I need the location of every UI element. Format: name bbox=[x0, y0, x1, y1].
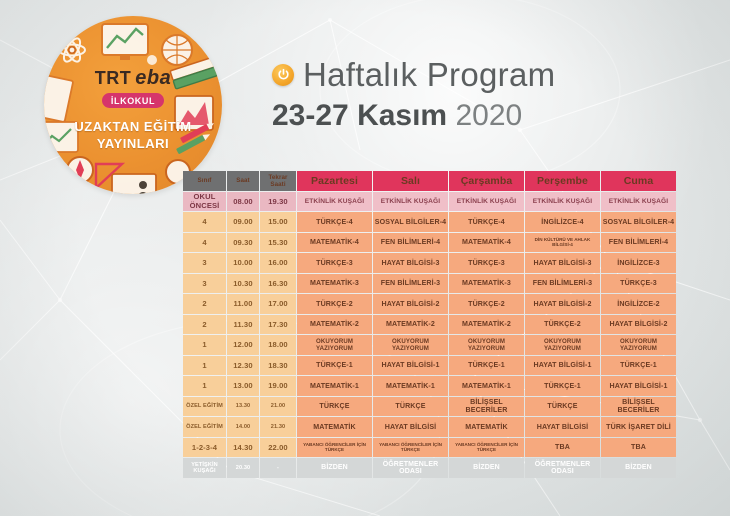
cell-day-sali: SOSYAL BİLGİLER-4 bbox=[373, 212, 448, 232]
cell-day-sali: FEN BİLİMLERİ-4 bbox=[373, 233, 448, 253]
column-header-cuma: Cuma bbox=[601, 171, 676, 191]
column-header-pazartesi: Pazartesi bbox=[297, 171, 372, 191]
cell-sinif: 1 bbox=[183, 356, 226, 376]
cell-tekrar: - bbox=[260, 458, 296, 478]
trt-eba-logo: TRT eba İLKOKUL UZAKTAN EĞİTİM YAYINLARI bbox=[44, 16, 222, 194]
table-row: OKUL ÖNCESİ08.0019.30ETKİNLİK KUŞAĞIETKİ… bbox=[183, 192, 676, 212]
cell-day-cuma: HAYAT BİLGİSİ-1 bbox=[601, 376, 676, 396]
cell-day-sali: HAYAT BİLGİSİ-3 bbox=[373, 253, 448, 273]
cell-day-sali: HAYAT BİLGİSİ bbox=[373, 417, 448, 437]
cell-day-pazartesi: MATEMATİK-2 bbox=[297, 315, 372, 335]
cell-saat: 10.30 bbox=[227, 274, 259, 294]
cell-day-cuma: İNGİLİZCE-2 bbox=[601, 294, 676, 314]
table-row: 211.0017.00TÜRKÇE-2HAYAT BİLGİSİ-2TÜRKÇE… bbox=[183, 294, 676, 314]
cell-day-cuma: OKUYORUM YAZIYORUM bbox=[601, 335, 676, 355]
cell-day-sali: TÜRKÇE bbox=[373, 397, 448, 417]
cell-day-cuma: TÜRKÇE-3 bbox=[601, 274, 676, 294]
cell-sinif: ÖZEL EĞİTİM bbox=[183, 397, 226, 417]
cell-day-sali: HAYAT BİLGİSİ-1 bbox=[373, 356, 448, 376]
cell-day-pazartesi: MATEMATİK bbox=[297, 417, 372, 437]
cell-day-carsamba: MATEMATİK-4 bbox=[449, 233, 524, 253]
cell-day-carsamba: MATEMATİK-2 bbox=[449, 315, 524, 335]
table-body: OKUL ÖNCESİ08.0019.30ETKİNLİK KUŞAĞIETKİ… bbox=[183, 192, 676, 478]
power-icon bbox=[272, 64, 294, 86]
logo-tagline-line2: YAYINLARI bbox=[44, 135, 222, 153]
cell-tekrar: 15.00 bbox=[260, 212, 296, 232]
page-subtitle: 23-27 Kasım 2020 bbox=[272, 101, 555, 131]
cell-day-sali: HAYAT BİLGİSİ-2 bbox=[373, 294, 448, 314]
table-row: 1-2-3-414.3022.00YABANCI ÖĞRENCİLER İÇİN… bbox=[183, 438, 676, 458]
logo-level-badge: İLKOKUL bbox=[102, 93, 164, 108]
cell-sinif: OKUL ÖNCESİ bbox=[183, 192, 226, 212]
cell-day-pazartesi: ETKİNLİK KUŞAĞI bbox=[297, 192, 372, 212]
cell-day-persembe: HAYAT BİLGİSİ-2 bbox=[525, 294, 600, 314]
cell-day-pazartesi: MATEMATİK-3 bbox=[297, 274, 372, 294]
table-row: 113.0019.00MATEMATİK-1MATEMATİK-1MATEMAT… bbox=[183, 376, 676, 396]
column-header-carsamba: Çarşamba bbox=[449, 171, 524, 191]
cell-day-carsamba: OKUYORUM YAZIYORUM bbox=[449, 335, 524, 355]
page-title-block: Haftalık Program 23-27 Kasım 2020 bbox=[272, 58, 555, 131]
cell-saat: 20.30 bbox=[227, 458, 259, 478]
table-row: 310.3016.30MATEMATİK-3FEN BİLİMLERİ-3MAT… bbox=[183, 274, 676, 294]
cell-sinif: 2 bbox=[183, 315, 226, 335]
page-title-row: Haftalık Program bbox=[272, 58, 555, 91]
cell-day-persembe: OKUYORUM YAZIYORUM bbox=[525, 335, 600, 355]
cell-saat: 12.30 bbox=[227, 356, 259, 376]
cell-day-persembe: HAYAT BİLGİSİ-1 bbox=[525, 356, 600, 376]
table-row: ÖZEL EĞİTİM14.0021.30MATEMATİKHAYAT BİLG… bbox=[183, 417, 676, 437]
cell-day-persembe: ÖĞRETMENLER ODASI bbox=[525, 458, 600, 478]
cell-day-pazartesi: TÜRKÇE-3 bbox=[297, 253, 372, 273]
cell-saat: 13.00 bbox=[227, 376, 259, 396]
cell-day-pazartesi: MATEMATİK-4 bbox=[297, 233, 372, 253]
cell-day-carsamba: TÜRKÇE-3 bbox=[449, 253, 524, 273]
cell-day-persembe: FEN BİLİMLERİ-3 bbox=[525, 274, 600, 294]
cell-sinif: 1 bbox=[183, 376, 226, 396]
cell-day-cuma: BİZDEN bbox=[601, 458, 676, 478]
cell-sinif: 1 bbox=[183, 335, 226, 355]
cell-day-cuma: TBA bbox=[601, 438, 676, 458]
column-header-persembe: Perşembe bbox=[525, 171, 600, 191]
cell-sinif: 3 bbox=[183, 274, 226, 294]
cell-tekrar: 21.00 bbox=[260, 397, 296, 417]
cell-day-cuma: FEN BİLİMLERİ-4 bbox=[601, 233, 676, 253]
cell-day-cuma: TÜRKÇE-1 bbox=[601, 356, 676, 376]
table-row: ÖZEL EĞİTİM13.3021.00TÜRKÇETÜRKÇEBİLİŞSE… bbox=[183, 397, 676, 417]
cell-day-pazartesi: TÜRKÇE-2 bbox=[297, 294, 372, 314]
date-range: 23-27 Kasım bbox=[272, 99, 447, 132]
cell-day-cuma: BİLİŞSEL BECERİLER bbox=[601, 397, 676, 417]
cell-saat: 11.30 bbox=[227, 315, 259, 335]
cell-day-carsamba: BİLİŞSEL BECERİLER bbox=[449, 397, 524, 417]
page-title: Haftalık Program bbox=[303, 58, 555, 91]
cell-saat: 09.30 bbox=[227, 233, 259, 253]
cell-day-carsamba: ETKİNLİK KUŞAĞI bbox=[449, 192, 524, 212]
cell-day-sali: ÖĞRETMENLER ODASI bbox=[373, 458, 448, 478]
cell-day-cuma: SOSYAL BİLGİLER-4 bbox=[601, 212, 676, 232]
cell-day-sali: YABANCI ÖĞRENCİLER İÇİN TÜRKÇE bbox=[373, 438, 448, 458]
cell-sinif: 4 bbox=[183, 233, 226, 253]
cell-tekrar: 15.30 bbox=[260, 233, 296, 253]
cell-saat: 12.00 bbox=[227, 335, 259, 355]
logo-eba-text: eba bbox=[135, 68, 171, 88]
cell-saat: 10.00 bbox=[227, 253, 259, 273]
cell-tekrar: 16.30 bbox=[260, 274, 296, 294]
cell-sinif: 4 bbox=[183, 212, 226, 232]
table-row: YETİŞKİN KUŞAĞI20.30-BİZDENÖĞRETMENLER O… bbox=[183, 458, 676, 478]
table-row: 409.3015.30MATEMATİK-4FEN BİLİMLERİ-4MAT… bbox=[183, 233, 676, 253]
weekly-schedule-table: Sınıf Saat Tekrar Saati Pazartesi Salı Ç… bbox=[182, 170, 677, 479]
cell-day-cuma: HAYAT BİLGİSİ-2 bbox=[601, 315, 676, 335]
cell-day-persembe: TÜRKÇE-2 bbox=[525, 315, 600, 335]
cell-saat: 14.30 bbox=[227, 438, 259, 458]
cell-sinif: ÖZEL EĞİTİM bbox=[183, 417, 226, 437]
cell-tekrar: 19.30 bbox=[260, 192, 296, 212]
cell-day-carsamba: YABANCI ÖĞRENCİLER İÇİN TÜRKÇE bbox=[449, 438, 524, 458]
cell-day-carsamba: TÜRKÇE-4 bbox=[449, 212, 524, 232]
cell-day-pazartesi: TÜRKÇE-1 bbox=[297, 356, 372, 376]
cell-day-sali: ETKİNLİK KUŞAĞI bbox=[373, 192, 448, 212]
cell-day-persembe: ETKİNLİK KUŞAĞI bbox=[525, 192, 600, 212]
cell-day-persembe: HAYAT BİLGİSİ bbox=[525, 417, 600, 437]
column-header-tekrar-saati: Tekrar Saati bbox=[260, 171, 296, 191]
table-row: 211.3017.30MATEMATİK-2MATEMATİK-2MATEMAT… bbox=[183, 315, 676, 335]
cell-saat: 14.00 bbox=[227, 417, 259, 437]
column-header-sinif: Sınıf bbox=[183, 171, 226, 191]
cell-day-persembe: İNGİLİZCE-4 bbox=[525, 212, 600, 232]
cell-day-pazartesi: OKUYORUM YAZIYORUM bbox=[297, 335, 372, 355]
logo-wordmark: TRT eba bbox=[44, 68, 222, 88]
cell-day-pazartesi: YABANCI ÖĞRENCİLER İÇİN TÜRKÇE bbox=[297, 438, 372, 458]
cell-tekrar: 18.00 bbox=[260, 335, 296, 355]
table-header: Sınıf Saat Tekrar Saati Pazartesi Salı Ç… bbox=[183, 171, 676, 191]
cell-saat: 09.00 bbox=[227, 212, 259, 232]
cell-day-carsamba: MATEMATİK-3 bbox=[449, 274, 524, 294]
cell-day-carsamba: TÜRKÇE-1 bbox=[449, 356, 524, 376]
cell-day-persembe: TÜRKÇE bbox=[525, 397, 600, 417]
cell-tekrar: 17.30 bbox=[260, 315, 296, 335]
cell-tekrar: 21.30 bbox=[260, 417, 296, 437]
cell-day-carsamba: TÜRKÇE-2 bbox=[449, 294, 524, 314]
table-row: 409.0015.00TÜRKÇE-4SOSYAL BİLGİLER-4TÜRK… bbox=[183, 212, 676, 232]
cell-sinif: 3 bbox=[183, 253, 226, 273]
cell-day-cuma: İNGİLİZCE-3 bbox=[601, 253, 676, 273]
column-header-sali: Salı bbox=[373, 171, 448, 191]
cell-day-persembe: TBA bbox=[525, 438, 600, 458]
cell-day-persembe: TÜRKÇE-1 bbox=[525, 376, 600, 396]
cell-tekrar: 19.00 bbox=[260, 376, 296, 396]
cell-day-pazartesi: MATEMATİK-1 bbox=[297, 376, 372, 396]
table-row: 112.0018.00OKUYORUM YAZIYORUMOKUYORUM YA… bbox=[183, 335, 676, 355]
logo-tagline-line1: UZAKTAN EĞİTİM bbox=[44, 118, 222, 136]
cell-day-carsamba: MATEMATİK bbox=[449, 417, 524, 437]
cell-sinif: YETİŞKİN KUŞAĞI bbox=[183, 458, 226, 478]
cell-saat: 08.00 bbox=[227, 192, 259, 212]
cell-day-sali: OKUYORUM YAZIYORUM bbox=[373, 335, 448, 355]
cell-day-persembe: HAYAT BİLGİSİ-3 bbox=[525, 253, 600, 273]
cell-tekrar: 22.00 bbox=[260, 438, 296, 458]
cell-day-carsamba: MATEMATİK-1 bbox=[449, 376, 524, 396]
column-header-saat: Saat bbox=[227, 171, 259, 191]
year: 2020 bbox=[455, 99, 522, 132]
cell-day-pazartesi: TÜRKÇE bbox=[297, 397, 372, 417]
cell-saat: 11.00 bbox=[227, 294, 259, 314]
logo-trt-text: TRT bbox=[95, 69, 132, 87]
logo-tagline: UZAKTAN EĞİTİM YAYINLARI bbox=[44, 118, 222, 153]
cell-day-pazartesi: TÜRKÇE-4 bbox=[297, 212, 372, 232]
cell-day-sali: MATEMATİK-1 bbox=[373, 376, 448, 396]
table-row: 310.0016.00TÜRKÇE-3HAYAT BİLGİSİ-3TÜRKÇE… bbox=[183, 253, 676, 273]
cell-sinif: 2 bbox=[183, 294, 226, 314]
cell-day-pazartesi: BİZDEN bbox=[297, 458, 372, 478]
table-row: 112.3018.30TÜRKÇE-1HAYAT BİLGİSİ-1TÜRKÇE… bbox=[183, 356, 676, 376]
cell-day-cuma: ETKİNLİK KUŞAĞI bbox=[601, 192, 676, 212]
cell-day-cuma: TÜRK İŞARET DİLİ bbox=[601, 417, 676, 437]
cell-tekrar: 17.00 bbox=[260, 294, 296, 314]
cell-day-persembe: DİN KÜLTÜRÜ VE AHLAK BİLGİSİ-4 bbox=[525, 233, 600, 253]
cell-day-carsamba: BİZDEN bbox=[449, 458, 524, 478]
table-header-row: Sınıf Saat Tekrar Saati Pazartesi Salı Ç… bbox=[183, 171, 676, 191]
cell-day-sali: FEN BİLİMLERİ-3 bbox=[373, 274, 448, 294]
cell-tekrar: 16.00 bbox=[260, 253, 296, 273]
cell-saat: 13.30 bbox=[227, 397, 259, 417]
cell-tekrar: 18.30 bbox=[260, 356, 296, 376]
cell-sinif: 1-2-3-4 bbox=[183, 438, 226, 458]
cell-day-sali: MATEMATİK-2 bbox=[373, 315, 448, 335]
